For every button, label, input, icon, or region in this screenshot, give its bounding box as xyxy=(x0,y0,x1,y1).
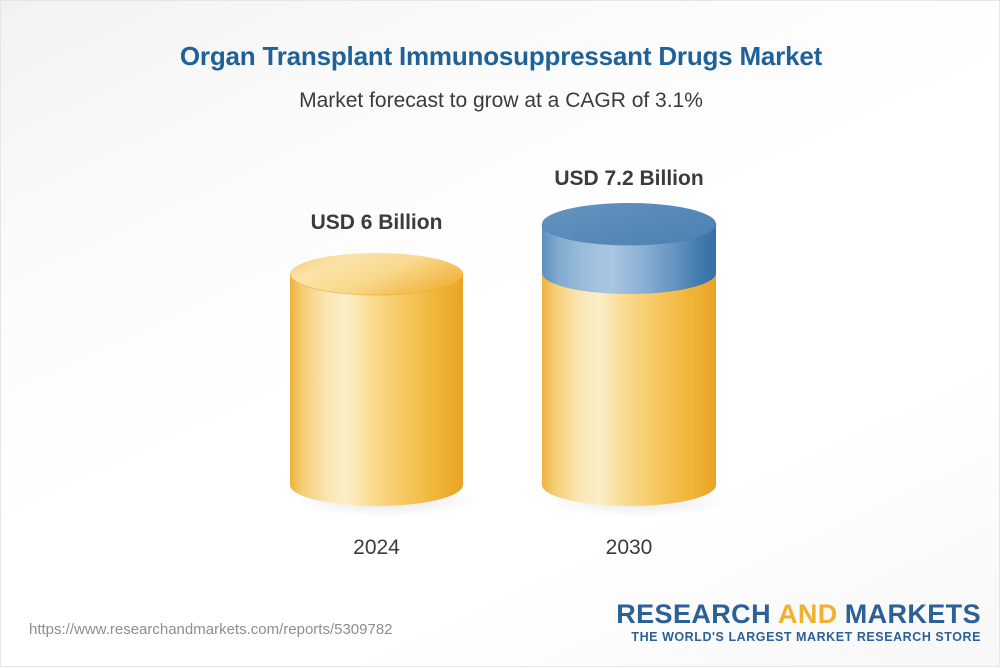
logo-part-research: RESEARCH xyxy=(616,599,771,629)
bar-category-label-2024: 2024 xyxy=(290,536,463,560)
logo-tagline: THE WORLD'S LARGEST MARKET RESEARCH STOR… xyxy=(616,630,981,645)
logo-part-and: AND xyxy=(778,599,838,629)
logo-part-markets: MARKETS xyxy=(845,599,981,629)
bar-category-label-2030: 2030 xyxy=(542,536,716,560)
cylinder-body-2024 xyxy=(290,274,463,506)
cylinder-body-base-2030 xyxy=(542,273,716,506)
bar-value-label-2024: USD 6 Billion xyxy=(290,211,463,235)
chart-canvas: Organ Transplant Immunosuppressant Drugs… xyxy=(0,0,1000,667)
bar-value-label-2030: USD 7.2 Billion xyxy=(542,167,716,191)
logo-wordmark: RESEARCHANDMARKETS xyxy=(616,600,981,628)
cylinder-2030[interactable] xyxy=(542,203,716,528)
report-url[interactable]: https://www.researchandmarkets.com/repor… xyxy=(29,621,393,638)
cylinder-2024[interactable] xyxy=(290,253,463,528)
research-and-markets-logo[interactable]: RESEARCHANDMARKETS THE WORLD'S LARGEST M… xyxy=(616,600,981,645)
plot-area: USD 6 Billion xyxy=(1,1,1000,668)
